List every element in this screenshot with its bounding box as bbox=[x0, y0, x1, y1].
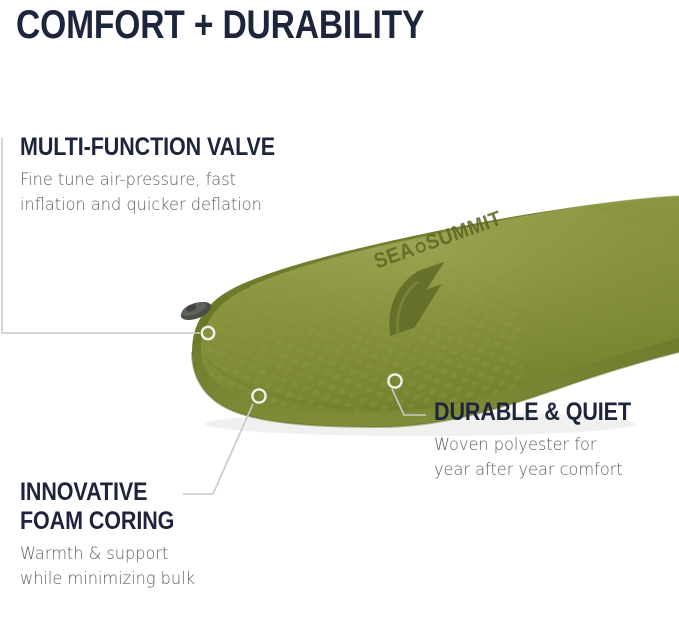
infographic-canvas: SEASUMMIT COMFORT + DURABILITY MULTI-FUN… bbox=[0, 0, 679, 618]
page-title: COMFORT + DURABILITY bbox=[16, 2, 424, 48]
callout-innovative-foam-coring: INNOVATIVE FOAM CORING Warmth & support … bbox=[20, 478, 204, 592]
callout-body-foam-line1: Warmth & support bbox=[20, 542, 195, 567]
durable-marker-ring-icon bbox=[388, 374, 401, 387]
callout-heading-foam-line1: INNOVATIVE bbox=[20, 478, 178, 507]
callout-body-valve-line1: Fine tune air-pressure, fast bbox=[20, 168, 302, 193]
callout-durable-and-quiet: DURABLE & QUIET Woven polyester for year… bbox=[434, 398, 663, 483]
callout-body-valve-line2: inflation and quicker deflation bbox=[20, 193, 302, 218]
callout-multi-function-valve: MULTI-FUNCTION VALVE Fine tune air-press… bbox=[20, 133, 317, 218]
callout-body-durable-line1: Woven polyester for bbox=[434, 433, 652, 458]
leader-line-durable bbox=[392, 389, 426, 415]
callout-heading-valve: MULTI-FUNCTION VALVE bbox=[20, 133, 275, 162]
callout-body-durable-line2: year after year comfort bbox=[434, 458, 652, 483]
callout-heading-durable: DURABLE & QUIET bbox=[434, 398, 631, 427]
valve-marker-ring-icon bbox=[202, 327, 214, 339]
foam-marker-ring-icon bbox=[252, 389, 265, 402]
callout-body-foam-line2: while minimizing bulk bbox=[20, 567, 195, 592]
callout-heading-foam-line2: FOAM CORING bbox=[20, 507, 178, 536]
